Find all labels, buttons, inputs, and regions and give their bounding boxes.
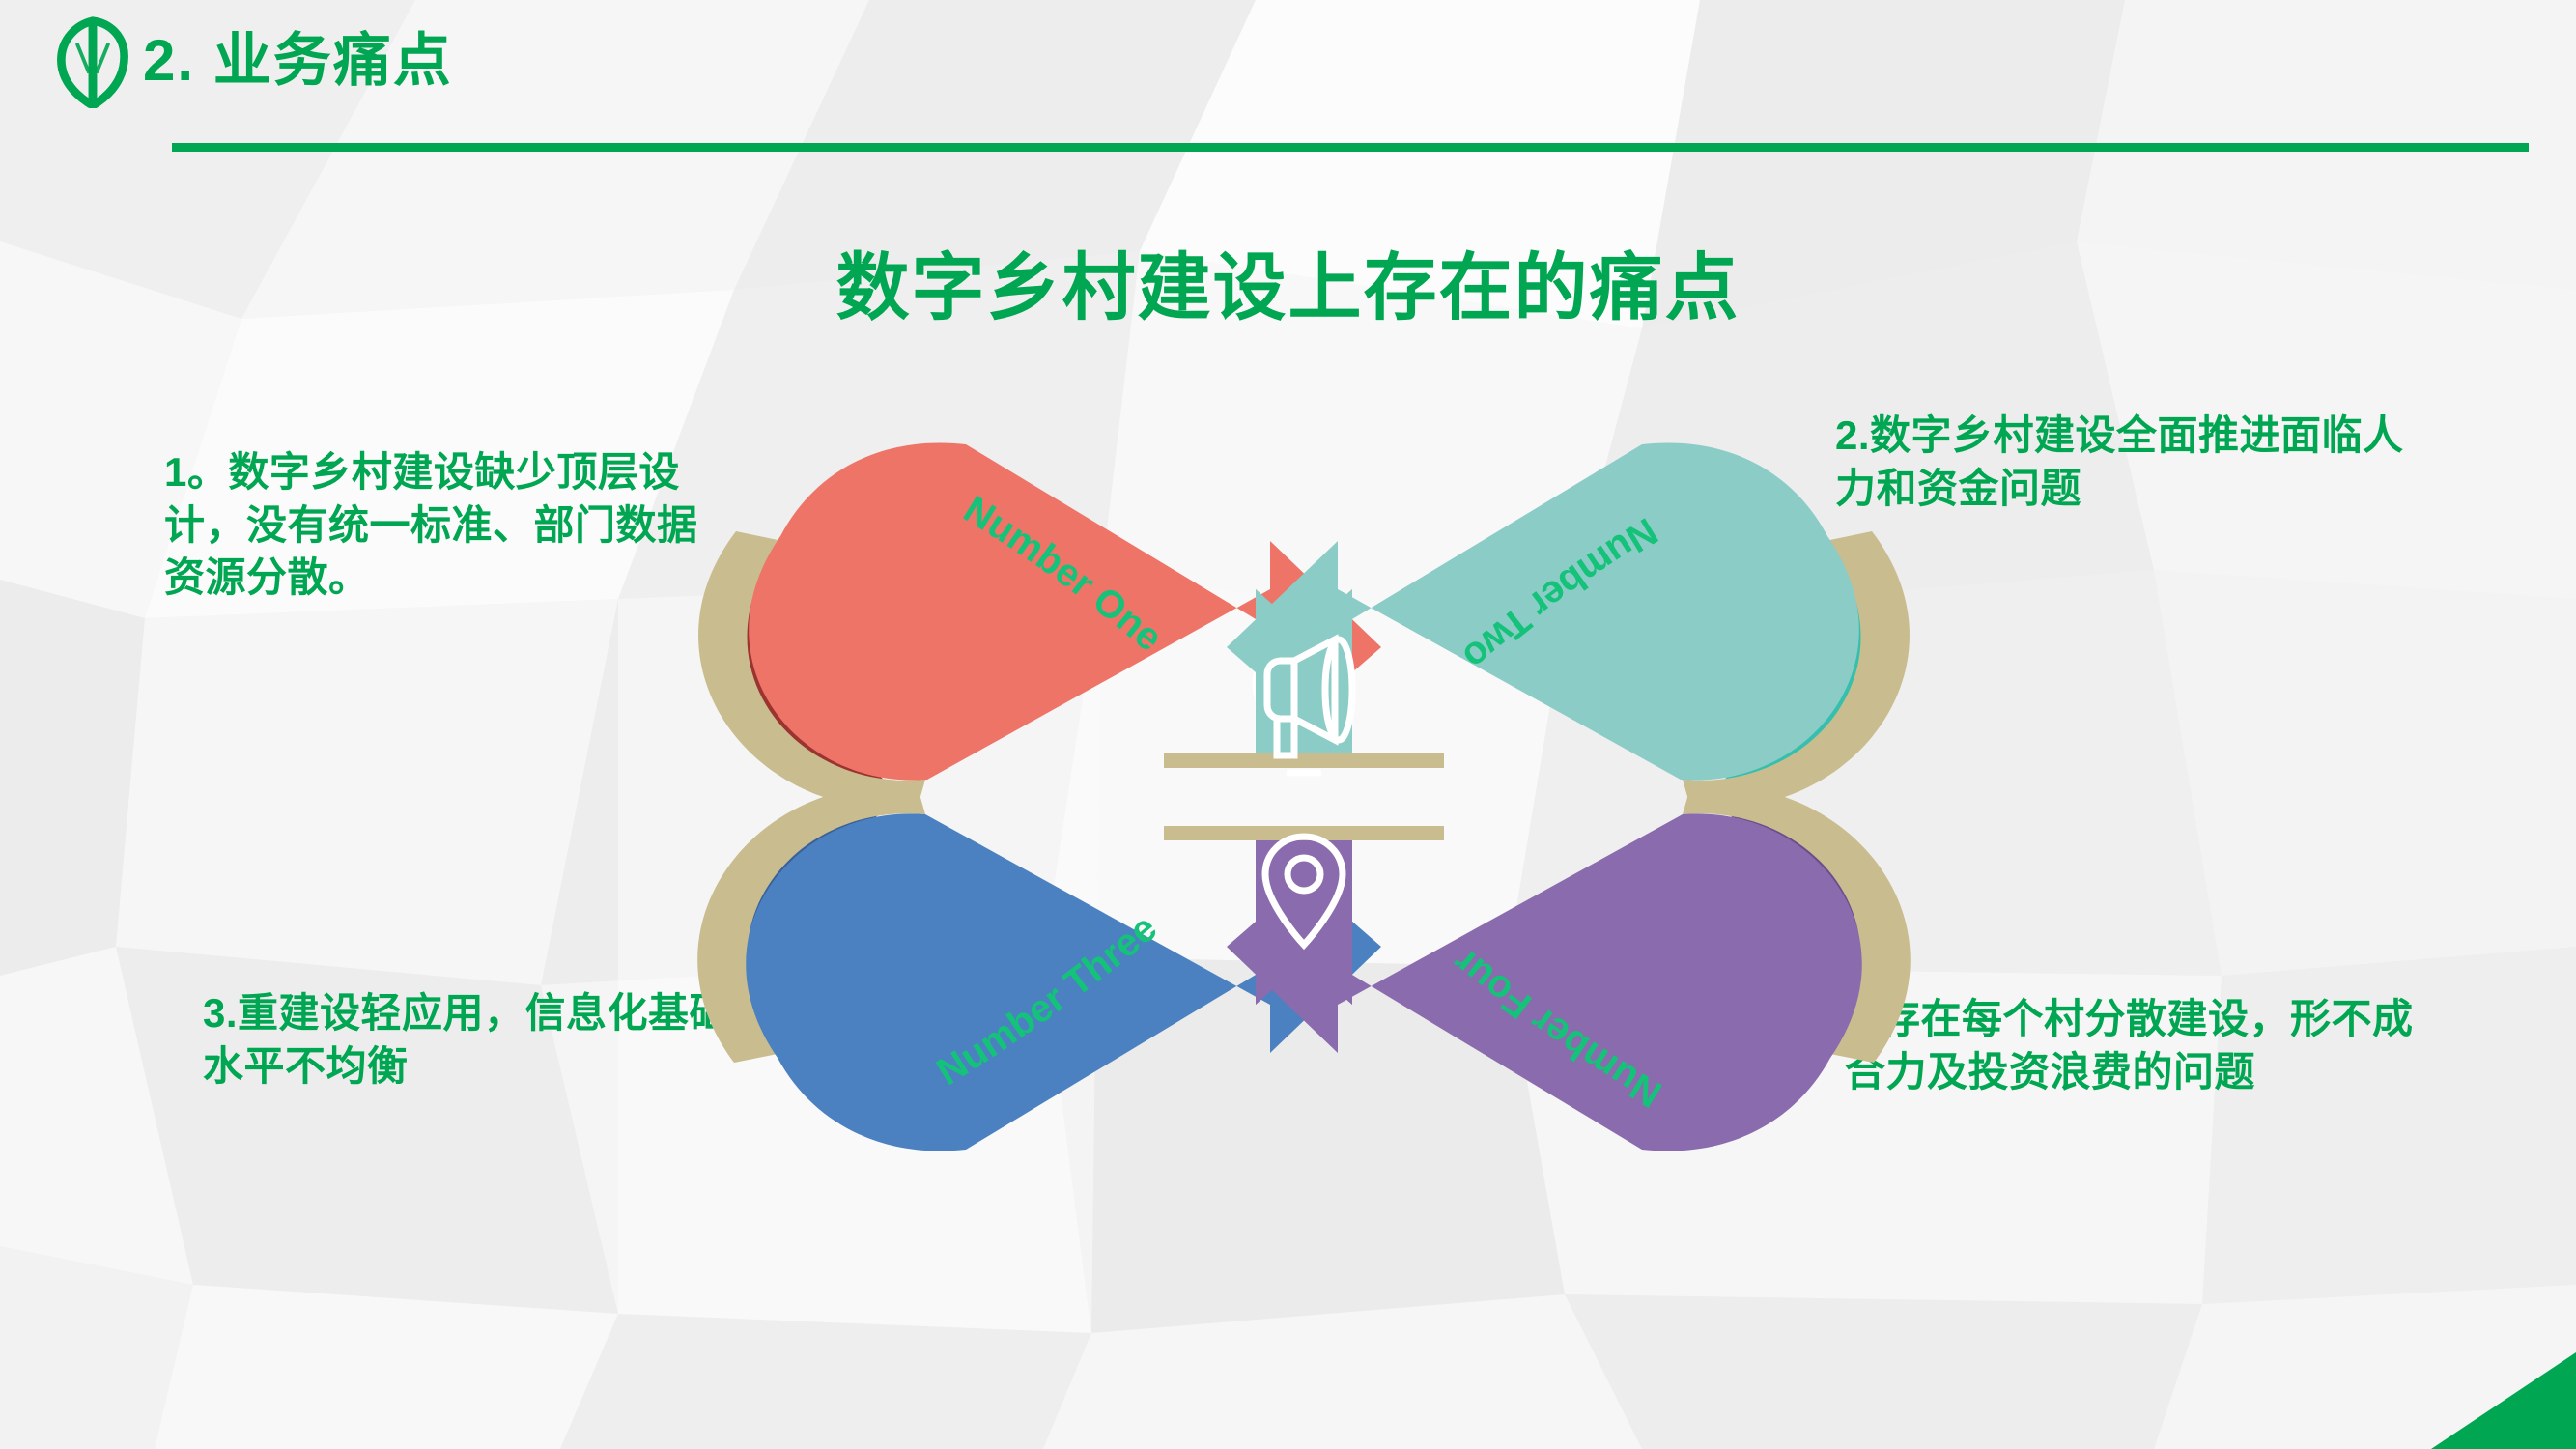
- callout-text-3: 3.重建设轻应用，信息化基础水平不均衡: [203, 987, 744, 1093]
- callout-text-4: 4.存在每个村分散建设，形不成合力及投资浪费的问题: [1845, 993, 2444, 1098]
- callout-text-1: 1。数字乡村建设缺少顶层设计，没有统一标准、部门数据资源分散。: [164, 446, 715, 605]
- slide-root: 2. 业务痛点 数字乡村建设上存在的痛点 1。数字乡村建设缺少顶层设计，没有统一…: [0, 0, 2576, 1449]
- arrow-number-four[interactable]: Number Four: [1227, 785, 1911, 1151]
- leaf-icon: [46, 15, 139, 108]
- corner-triangle-icon: [2354, 1352, 2576, 1449]
- slide-header: 2. 业务痛点: [0, 0, 2576, 155]
- main-heading: 数字乡村建设上存在的痛点: [0, 228, 2576, 334]
- header-divider: [172, 143, 2529, 152]
- arrow-number-two[interactable]: Number Two: [1227, 442, 1910, 808]
- page-title: 2. 业务痛点: [143, 14, 453, 98]
- butterfly-arrow-diagram: Number Three Number Four: [676, 386, 1932, 1207]
